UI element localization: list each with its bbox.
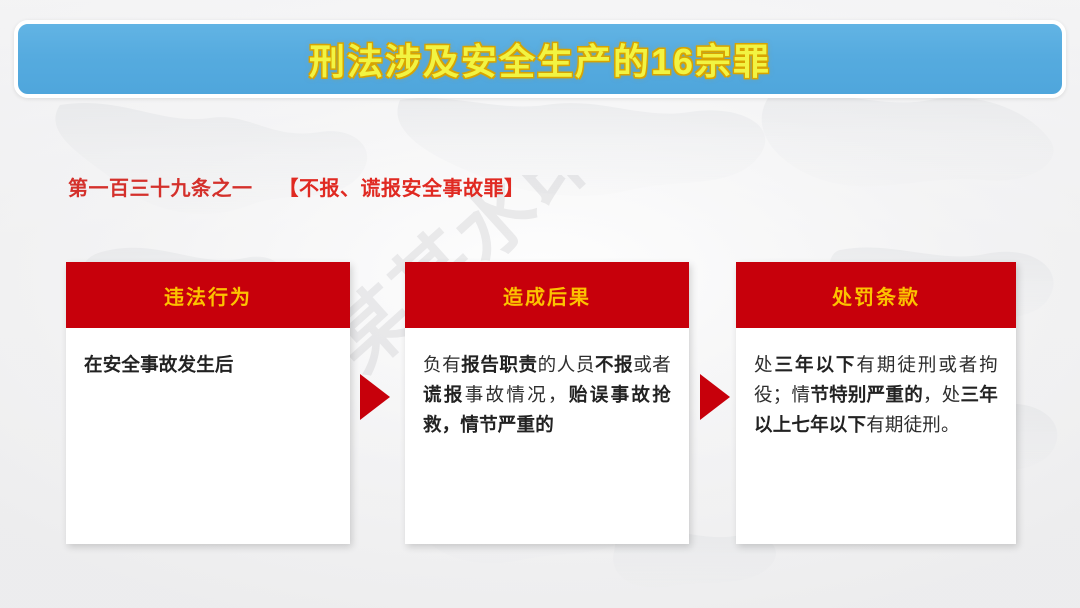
body-text-segment: 负有 xyxy=(423,354,461,375)
card-body: 负有报告职责的人员不报或者谎报事故情况，贻误事故抢救，情节严重的 xyxy=(405,328,689,458)
body-text-segment: 在安全事故发生后 xyxy=(84,354,234,375)
body-text-segment: 或者 xyxy=(633,354,671,375)
body-text-segment: 谎报 xyxy=(423,384,465,405)
card-body: 在安全事故发生后 xyxy=(66,328,350,398)
crime-name: 【不报、谎报安全事故罪】 xyxy=(279,178,525,200)
card-header: 违法行为 xyxy=(66,262,350,328)
body-text-segment: 三年以下 xyxy=(774,354,856,375)
card-header: 造成后果 xyxy=(405,262,689,328)
slide-title: 刑法涉及安全生产的16宗罪 xyxy=(309,33,771,85)
body-text-segment: 的人员 xyxy=(538,354,595,375)
card-violation: 违法行为 在安全事故发生后 xyxy=(66,262,350,544)
card-consequence: 造成后果 负有报告职责的人员不报或者谎报事故情况，贻误事故抢救，情节严重的 xyxy=(405,262,689,544)
card-body: 处三年以下有期徒刑或者拘役；情节特别严重的，处三年以上七年以下有期徒刑。 xyxy=(736,328,1016,458)
body-text-segment: 节特别严重的 xyxy=(810,384,923,405)
card-penalty: 处罚条款 处三年以下有期徒刑或者拘役；情节特别严重的，处三年以上七年以下有期徒刑… xyxy=(736,262,1016,544)
body-text-segment: ，处 xyxy=(923,384,961,405)
article-number: 第一百三十九条之一 xyxy=(68,178,253,200)
card-header-title: 造成后果 xyxy=(503,281,591,310)
card-header-title: 违法行为 xyxy=(164,281,252,310)
slide-title-bar: 刑法涉及安全生产的16宗罪 xyxy=(14,20,1066,98)
article-subtitle: 第一百三十九条之一【不报、谎报安全事故罪】 xyxy=(68,172,525,201)
body-text-segment: 不报 xyxy=(595,354,633,375)
arrow-right-icon xyxy=(360,374,390,420)
slide-canvas: 某某水印 刑法涉及安全生产的16宗罪 第一百三十九条之一【不报、谎报安全事故罪】… xyxy=(0,0,1080,608)
body-text-segment: 有期徒刑。 xyxy=(866,414,960,435)
body-text-segment: 处 xyxy=(754,354,774,375)
body-text-segment: 报告职责 xyxy=(461,354,537,375)
arrow-right-icon xyxy=(700,374,730,420)
card-header: 处罚条款 xyxy=(736,262,1016,328)
card-header-title: 处罚条款 xyxy=(832,281,920,310)
body-text-segment: 事故情况， xyxy=(465,384,569,405)
